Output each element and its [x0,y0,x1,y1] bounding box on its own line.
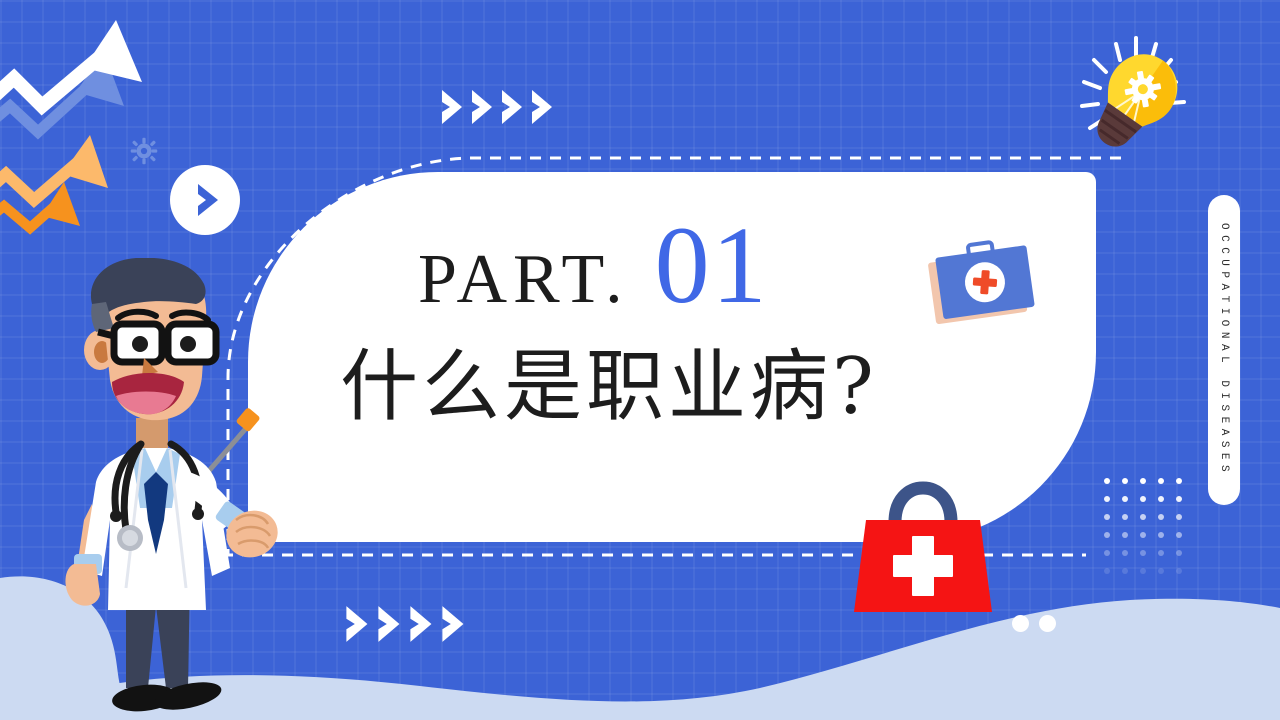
chevron-decor-top [440,88,557,126]
page-title: 什么是职业病? [340,348,878,426]
first-aid-bag-icon [838,476,1008,616]
lightbulb-gear-icon [1058,24,1208,164]
head [84,258,216,420]
gear-icon [130,137,158,165]
side-tab: OCCUPATIONAL DISEASES [1208,195,1240,505]
doctor-illustration [40,258,360,720]
chevron-icon [376,604,405,644]
dot-icon [1039,615,1056,632]
chevron-decor-bottom [344,604,469,644]
slide-canvas: OCCUPATIONAL DISEASES [0,0,1280,720]
chevron-icon [530,88,557,126]
chevron-icon [440,604,469,644]
two-dots-decor [1012,615,1056,632]
chevron-icon [470,88,497,126]
part-heading: PART. 01 [418,210,769,320]
dot-icon [1012,615,1029,632]
side-tab-label: OCCUPATIONAL DISEASES [1218,223,1230,477]
chevron-icon [440,88,467,126]
medical-folder-icon [920,240,1040,340]
chevron-icon [408,604,437,644]
chevron-icon [500,88,527,126]
part-label: PART. [418,245,629,315]
part-number: 01 [655,210,769,320]
